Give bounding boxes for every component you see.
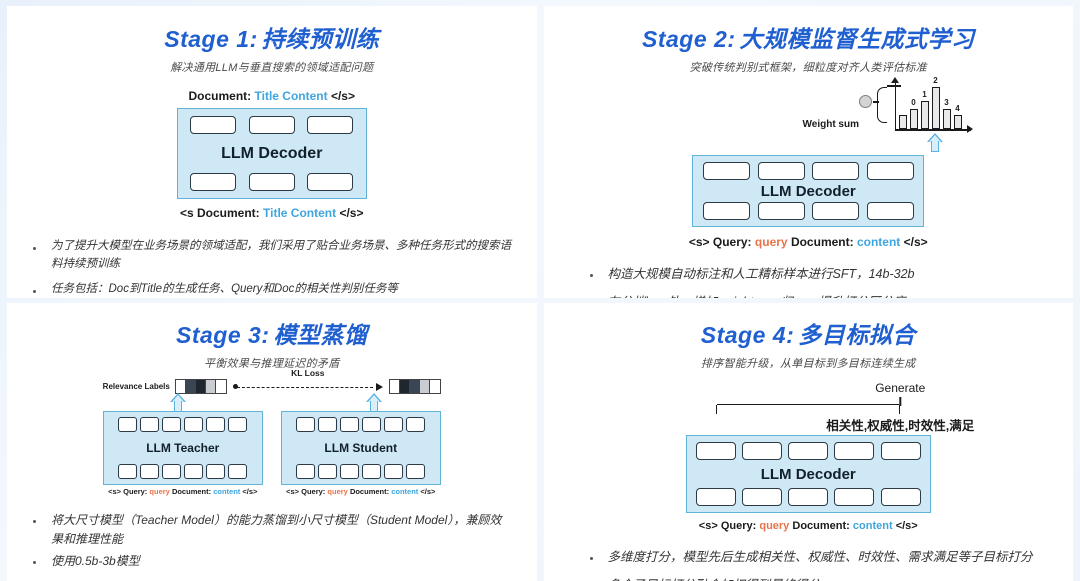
seq-suffix: </s> — [339, 206, 363, 220]
student-sequence-caption: <s> Query: query Document: content </s> — [281, 487, 441, 496]
token-box — [742, 488, 782, 506]
brace-icon — [877, 87, 887, 123]
title-cn: 持续预训练 — [262, 26, 380, 52]
token-box — [867, 162, 914, 180]
token-box — [788, 442, 828, 460]
student-group: LLM Student <s> Query: que — [281, 411, 441, 496]
bar-label: 4 — [955, 104, 959, 113]
teacher-student-pair: LLM Teacher <s> Query: que — [7, 411, 537, 496]
seq-highlight: Title Content — [263, 206, 336, 220]
y-axis-arrow-icon — [891, 77, 899, 83]
seq-doc-key: Document: — [350, 487, 389, 496]
generate-bracket-diagram: Generate 相关性,权威性,时效性,满足 — [544, 381, 1074, 435]
chart-bar: 1 — [921, 101, 929, 129]
seq-prefix: <s Document: — [180, 206, 260, 220]
panel-stage4: Stage 4:多目标拟合 排序智能升级，从单目标到多目标连续生成 Genera… — [544, 303, 1074, 581]
panel-subtitle-stage4: 排序智能升级，从单目标到多目标连续生成 — [544, 355, 1074, 371]
token-box — [140, 464, 159, 479]
panel-subtitle-stage1: 解决通用LLM与垂直搜索的领域适配问题 — [7, 59, 537, 75]
slide-canvas: Stage 1:持续预训练 解决通用LLM与垂直搜索的领域适配问题 Docume… — [0, 0, 1080, 581]
token-box — [162, 417, 181, 432]
bullet-list-stage2: 构造大规模自动标注和人工精标样本进行SFT，14b-32b 在分档loss外，增… — [582, 265, 1050, 298]
token-box — [758, 162, 805, 180]
bullet-item: 构造大规模自动标注和人工精标样本进行SFT，14b-32b — [582, 265, 1050, 284]
x-axis-arrow-icon — [967, 125, 973, 133]
title-en: Stage 4: — [701, 322, 794, 348]
panel-title-stage1: Stage 1:持续预训练 — [7, 6, 537, 54]
kl-loss-connector: KL Loss — [233, 380, 383, 394]
logit-cell — [176, 380, 186, 393]
token-box — [228, 464, 247, 479]
bar-label: 1 — [922, 90, 926, 99]
seq-doc-key: Document: — [791, 235, 854, 249]
token-row-bottom — [184, 173, 360, 191]
token-box — [307, 116, 353, 134]
bar-label: 2 — [933, 76, 937, 85]
logit-cell — [420, 380, 430, 393]
llm-teacher-block: LLM Teacher — [103, 411, 263, 485]
chart-bar: 2 — [932, 87, 940, 129]
token-box — [184, 417, 203, 432]
input-sequence-caption: <s> Query: query Document: content </s> — [544, 235, 1074, 249]
bullet-list-stage4: 多维度打分，模型先后生成相关性、权威性、时效性、需求满足等子目标打分 多个子目标… — [582, 548, 1054, 581]
token-box — [881, 442, 921, 460]
generate-label: Generate — [875, 381, 925, 395]
seq-doc-value: content — [391, 487, 418, 496]
title-en: Stage 1: — [164, 26, 257, 52]
token-row-top — [184, 116, 360, 134]
logit-cell — [186, 380, 196, 393]
weight-sum-diagram: 0 1 2 3 4 Weight sum — [544, 77, 1074, 155]
seq-s-close: </s> — [904, 235, 928, 249]
llm-student-block: LLM Student — [281, 411, 441, 485]
token-box — [296, 417, 315, 432]
input-prefix: Document: — [189, 89, 252, 103]
llm-decoder-block-stage1: LLM Decoder — [177, 108, 367, 199]
chart-bar — [899, 115, 907, 129]
panel-stage2: Stage 2:大规模监督生成式学习 突破传统判别式框架，细粒度对齐人类评估标准… — [544, 6, 1074, 298]
logit-cell — [410, 380, 420, 393]
token-box — [406, 417, 425, 432]
seq-query-value: query — [327, 487, 347, 496]
token-row-bottom — [693, 488, 924, 506]
token-box — [206, 464, 225, 479]
token-box — [406, 464, 425, 479]
up-arrow-icon — [366, 393, 382, 412]
bullet-item: 使用0.5b-3b模型 — [25, 552, 509, 571]
input-suffix: </s> — [331, 89, 355, 103]
token-row-top — [693, 442, 924, 460]
weight-sum-bar-chart: 0 1 2 3 4 Weight sum — [859, 79, 971, 137]
bullet-item: 多维度打分，模型先后生成相关性、权威性、时效性、需求满足等子目标打分 — [582, 548, 1054, 567]
token-row-top — [108, 417, 258, 432]
token-box — [703, 162, 750, 180]
panel-title-stage4: Stage 4:多目标拟合 — [544, 303, 1074, 350]
seq-doc-value: content — [213, 487, 240, 496]
chart-bars: 0 1 2 3 4 — [899, 83, 962, 129]
teacher-name: LLM Teacher — [146, 441, 219, 455]
circle-node-icon — [859, 95, 872, 108]
token-box — [788, 488, 828, 506]
logit-cell — [216, 380, 226, 393]
token-box — [318, 464, 337, 479]
decoder-name: LLM Decoder — [761, 466, 856, 483]
token-box — [867, 202, 914, 220]
token-box — [118, 417, 137, 432]
teacher-sequence-caption: <s> Query: query Document: content </s> — [103, 487, 263, 496]
seq-s-close: </s> — [242, 487, 257, 496]
seq-query-value: query — [755, 235, 788, 249]
relevance-labels-row: Relevance Labels KL Loss — [7, 379, 537, 394]
title-cn: 模型蒸馏 — [273, 322, 367, 348]
kl-loss-label: KL Loss — [291, 368, 324, 378]
token-box — [296, 464, 315, 479]
token-box — [812, 202, 859, 220]
bullet-item: 任务包括：Doc到Title的生成任务、Query和Doc的相关性判别任务等 — [25, 281, 513, 298]
title-cn: 多目标拟合 — [798, 322, 916, 348]
seq-query-key: Query: — [123, 487, 147, 496]
token-box — [812, 162, 859, 180]
chart-bar: 4 — [954, 115, 962, 129]
teacher-group: LLM Teacher <s> Query: que — [103, 411, 263, 496]
token-box — [140, 417, 159, 432]
token-row-top — [286, 417, 436, 432]
bullet-item: 将大尺寸模型（Teacher Model）的能力蒸馏到小尺寸模型（Student… — [25, 511, 509, 548]
up-arrow-icon — [927, 133, 943, 152]
decoder-name: LLM Decoder — [221, 145, 322, 163]
input-sequence-caption: <s> Query: query Document: content </s> — [544, 520, 1074, 532]
bullet-item: 在分档loss外，增加weight sum归一，提升打分区分度 — [582, 293, 1050, 298]
logit-cell — [206, 380, 216, 393]
token-box — [696, 488, 736, 506]
logit-cell — [196, 380, 206, 393]
token-box — [307, 173, 353, 191]
objective-dimensions-label: 相关性,权威性,时效性,满足 — [826, 415, 974, 434]
seq-s-open: <s> — [108, 487, 121, 496]
seq-s-open: <s> — [699, 520, 718, 532]
teacher-logit-strip — [175, 379, 227, 394]
panel-title-stage2: Stage 2:大规模监督生成式学习 — [544, 6, 1074, 54]
bullet-item: 多个子目标打分融合加权得到最终得分 — [582, 576, 1054, 581]
token-box — [340, 417, 359, 432]
logit-cell — [430, 380, 440, 393]
seq-doc-value: content — [857, 235, 900, 249]
bullet-item: 为了提升大模型在业务场景的领域适配，我们采用了贴合业务场景、多种任务形式的搜索语… — [25, 238, 513, 274]
panel-title-stage3: Stage 3:模型蒸馏 — [7, 303, 537, 350]
token-box — [190, 173, 236, 191]
seq-s-close: </s> — [896, 520, 918, 532]
token-row-top — [699, 162, 917, 180]
seq-doc-key: Document: — [172, 487, 211, 496]
seq-query-value: query — [149, 487, 169, 496]
token-row-bottom — [699, 202, 917, 220]
weight-sum-label: Weight sum — [803, 119, 859, 130]
output-sequence-caption: <s Document: Title Content </s> — [7, 206, 537, 220]
token-box — [362, 417, 381, 432]
bullet-list-stage3: 将大尺寸模型（Teacher Model）的能力蒸馏到小尺寸模型（Student… — [25, 511, 509, 571]
panel-stage3: Stage 3:模型蒸馏 平衡效果与推理延迟的矛盾 Relevance Labe… — [7, 303, 537, 581]
seq-query-key: Query: — [713, 235, 752, 249]
token-box — [834, 442, 874, 460]
panel-stage1: Stage 1:持续预训练 解决通用LLM与垂直搜索的领域适配问题 Docume… — [7, 6, 537, 298]
llm-decoder-block-stage2: LLM Decoder — [692, 155, 924, 227]
chart-y-axis — [895, 81, 897, 131]
token-row-bottom — [108, 464, 258, 479]
token-box — [228, 417, 247, 432]
token-row-bottom — [286, 464, 436, 479]
token-box — [184, 464, 203, 479]
token-box — [318, 417, 337, 432]
seq-doc-key: Document: — [792, 520, 849, 532]
bullet-list-stage1: 为了提升大模型在业务场景的领域适配，我们采用了贴合业务场景、多种任务形式的搜索语… — [25, 238, 513, 298]
token-box — [758, 202, 805, 220]
chart-x-axis — [895, 129, 971, 131]
decoder-name: LLM Decoder — [761, 183, 856, 200]
token-box — [190, 116, 236, 134]
token-box — [249, 116, 295, 134]
relevance-labels-text: Relevance Labels — [103, 382, 170, 391]
panel-subtitle-stage3: 平衡效果与推理延迟的矛盾 — [7, 355, 537, 371]
token-box — [742, 442, 782, 460]
bracket-icon — [716, 405, 900, 414]
seq-s-open: <s> — [286, 487, 299, 496]
seq-s-close: </s> — [420, 487, 435, 496]
seq-query-key: Query: — [721, 520, 756, 532]
kl-dashed-line — [237, 387, 373, 388]
chart-bar: 3 — [943, 109, 951, 129]
panel-subtitle-stage2: 突破传统判别式框架，细粒度对齐人类评估标准 — [544, 59, 1074, 75]
token-box — [384, 464, 403, 479]
student-name: LLM Student — [324, 441, 397, 455]
kl-arrow-icon — [376, 383, 383, 391]
seq-s-open: <s> — [689, 235, 710, 249]
token-box — [834, 488, 874, 506]
seq-doc-value: content — [853, 520, 893, 532]
input-highlight: Title Content — [255, 89, 328, 103]
up-arrow-icon — [170, 393, 186, 412]
token-box — [362, 464, 381, 479]
title-en: Stage 2: — [642, 26, 735, 52]
token-box — [340, 464, 359, 479]
seq-query-key: Query: — [301, 487, 325, 496]
token-box — [703, 202, 750, 220]
token-box — [384, 417, 403, 432]
logit-cell — [390, 380, 400, 393]
token-box — [696, 442, 736, 460]
chart-bar: 0 — [910, 109, 918, 129]
bar-label: 3 — [944, 98, 948, 107]
token-box — [249, 173, 295, 191]
distillation-diagram: Relevance Labels KL Loss — [7, 379, 537, 497]
token-box — [206, 417, 225, 432]
input-sequence-label: Document: Title Content </s> — [7, 89, 537, 103]
title-cn: 大规模监督生成式学习 — [739, 26, 974, 52]
seq-query-value: query — [759, 520, 789, 532]
token-box — [162, 464, 181, 479]
title-en: Stage 3: — [176, 322, 269, 348]
bar-label: 0 — [911, 98, 915, 107]
logit-cell — [400, 380, 410, 393]
student-logit-strip — [389, 379, 441, 394]
llm-decoder-block-stage4: LLM Decoder — [686, 435, 931, 513]
token-box — [881, 488, 921, 506]
token-box — [118, 464, 137, 479]
